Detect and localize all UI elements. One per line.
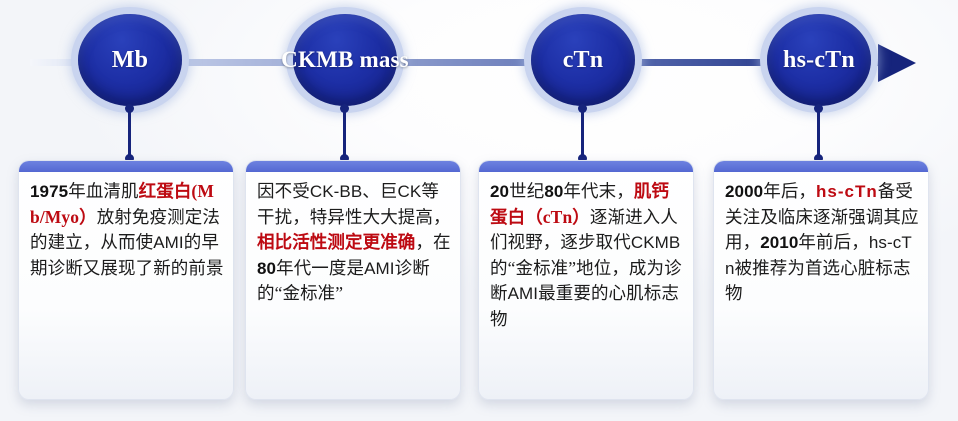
connector-ckmb-mass [340, 104, 349, 166]
card-topbar [19, 161, 233, 172]
arrow-right-icon [878, 44, 916, 82]
node-body: Mb [78, 14, 182, 106]
card-text: 1975年血清肌红蛋白(Mb/Myo）放射免疫测定法的建立，从而使AMI的早期诊… [30, 179, 224, 281]
timeline-infographic: Mb CKMB mass cTn hs-cTn [0, 0, 958, 421]
connector-mb [125, 104, 134, 166]
card-topbar [246, 161, 460, 172]
timeline-node-ckmb-mass[interactable]: CKMB mass [286, 7, 404, 113]
connector-ctn [578, 104, 587, 166]
timeline-node-mb[interactable]: Mb [71, 7, 189, 113]
connector-stem [817, 108, 820, 160]
card-text: 因不受CK-BB、巨CK等干扰，特异性大大提高，相比活性测定更准确，在80年代一… [257, 179, 451, 307]
description-card-hs-ctn[interactable]: 2000年后，hs-cTn备受关注及临床逐渐强调其应用，2010年前后，hs-c… [713, 160, 929, 400]
card-topbar [479, 161, 693, 172]
connector-stem [343, 108, 346, 160]
connector-stem [581, 108, 584, 160]
node-body: CKMB mass [293, 14, 397, 106]
node-label: hs-cTn [783, 47, 855, 74]
description-card-mb[interactable]: 1975年血清肌红蛋白(Mb/Myo）放射免疫测定法的建立，从而使AMI的早期诊… [18, 160, 234, 400]
card-topbar [714, 161, 928, 172]
node-body: hs-cTn [767, 14, 871, 106]
node-label: CKMB mass [281, 47, 409, 73]
node-label: cTn [563, 47, 604, 74]
node-label: Mb [112, 47, 148, 74]
card-text: 2000年后，hs-cTn备受关注及临床逐渐强调其应用，2010年前后，hs-c… [725, 179, 919, 307]
description-card-ckmb-mass[interactable]: 因不受CK-BB、巨CK等干扰，特异性大大提高，相比活性测定更准确，在80年代一… [245, 160, 461, 400]
connector-hs-ctn [814, 104, 823, 166]
description-card-ctn[interactable]: 20世纪80年代末，肌钙蛋白（cTn）逐渐进入人们视野，逐步取代CKMB的“金标… [478, 160, 694, 400]
node-body: cTn [531, 14, 635, 106]
card-text: 20世纪80年代末，肌钙蛋白（cTn）逐渐进入人们视野，逐步取代CKMB的“金标… [490, 179, 684, 332]
connector-stem [128, 108, 131, 160]
timeline-node-hs-ctn[interactable]: hs-cTn [760, 7, 878, 113]
timeline-node-ctn[interactable]: cTn [524, 7, 642, 113]
